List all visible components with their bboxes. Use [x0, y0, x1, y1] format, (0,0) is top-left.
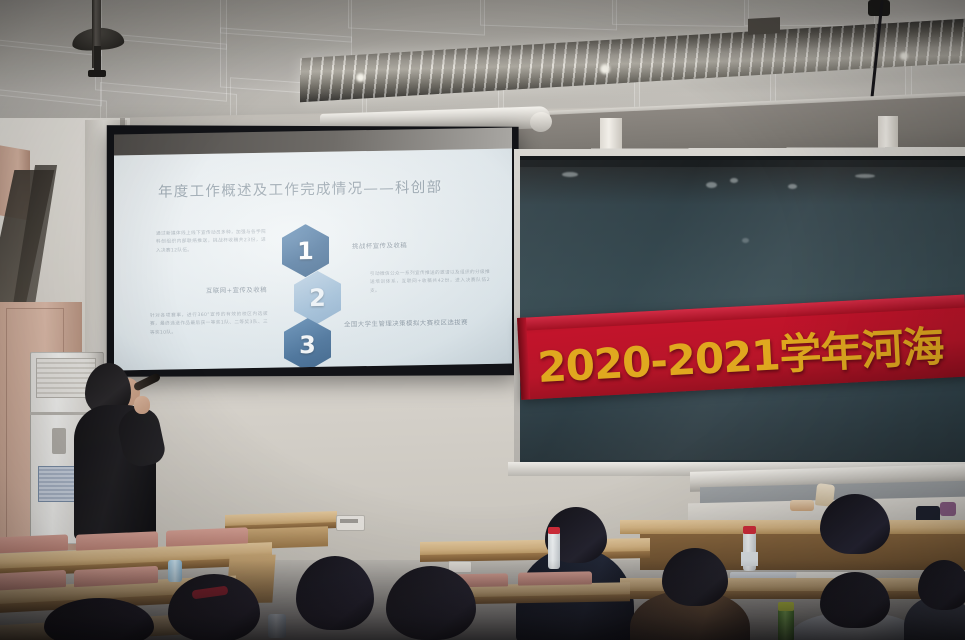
wall-outlet-upper[interactable] [336, 515, 365, 531]
slide-body-2: 引动微信公众一系列宣传推送的邀请以及组织的分级推送培训体系，互联网+收稿共42份… [370, 269, 490, 297]
podium-object-cloth [940, 502, 956, 516]
presenter-hand [134, 396, 150, 414]
slide-badge-column: 1 2 3 [282, 224, 340, 366]
foreground-shadow [0, 560, 965, 640]
slide-caption-2: 互联网+宣传及收稿 [206, 285, 267, 295]
slide-body-1: 通过新媒体线上线下宣传动员多种，加强与各学院科创组织内部联络推送，挑战杯收稿共2… [156, 229, 266, 256]
podium-object-papers [790, 500, 814, 511]
slide-title: 年度工作概述及工作完成情况——科创部 [158, 175, 478, 202]
seat-bench-1c [166, 527, 248, 546]
water-bottle-1-cap [743, 526, 756, 534]
seat-bench-1b [76, 531, 158, 550]
projected-slide: 年度工作概述及工作完成情况——科创部 1 2 3 通过新媒体线上线下宣传动员多种… [114, 149, 512, 371]
slide-caption-1: 挑战杯宣传及收稿 [352, 240, 407, 250]
air-conditioner-vent [52, 428, 66, 454]
slide-caption-3: 全国大学生管理决策模拟大赛校区选拔赛 [344, 317, 468, 328]
slide-badge-2: 2 [294, 271, 341, 325]
ceiling-pipe-cap [88, 70, 106, 77]
audience-person-head-2 [820, 494, 890, 554]
seat-bench-1a [0, 534, 68, 553]
classroom-presentation-photo: 年度工作概述及工作完成情况——科创部 1 2 3 通过新媒体线上线下宣传动员多种… [0, 0, 965, 640]
slide-body-3: 针对各项赛事，进行360°宣传的有效的校区内选拔赛，最终选送作品最后获一等奖1队… [150, 311, 268, 339]
water-bottle-2-cap [548, 527, 560, 534]
wall-outlet-slots [340, 519, 358, 523]
slide-badge-3: 3 [284, 318, 331, 371]
desk-top-row4-right [620, 520, 965, 534]
slide-badge-1: 1 [282, 224, 329, 278]
